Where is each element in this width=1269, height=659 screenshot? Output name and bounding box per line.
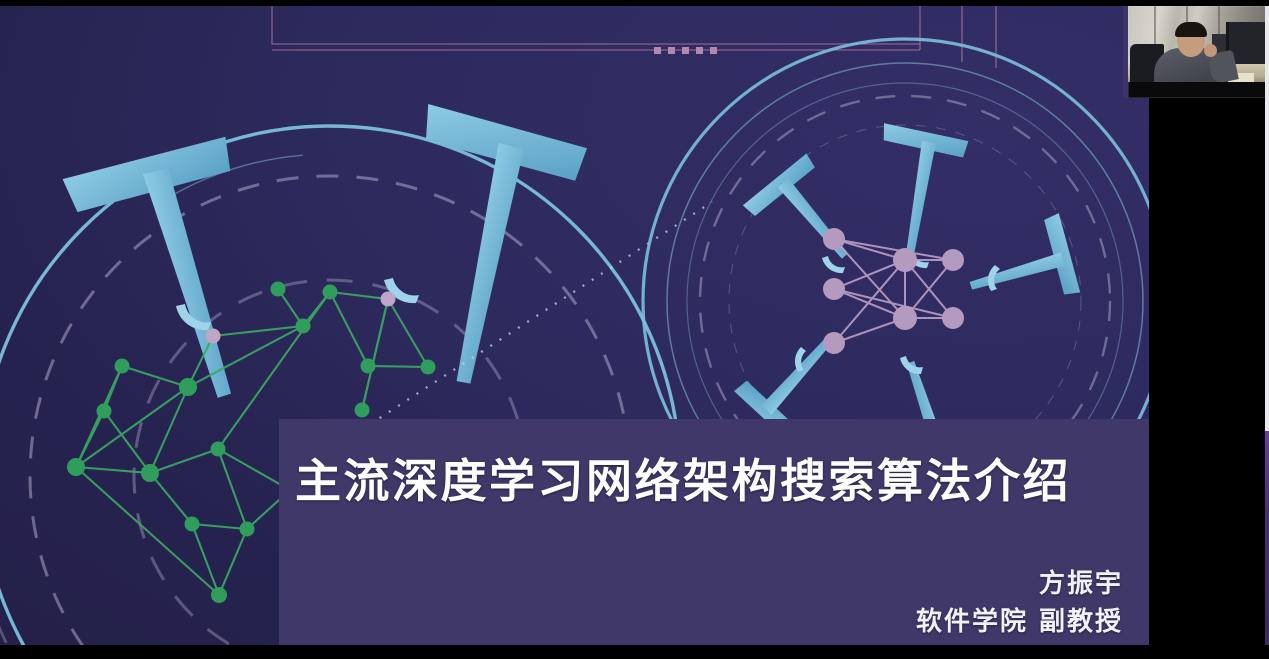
pink-graph-nodes — [823, 228, 964, 354]
letterbox-top — [0, 0, 1269, 6]
pink-graph-edges — [834, 239, 953, 343]
scrollbar-icon[interactable] — [1265, 6, 1269, 431]
presenter-webcam[interactable] — [1128, 6, 1266, 98]
author-affiliation: 软件学院 副教授 — [916, 602, 1123, 642]
scrollbar-thumb[interactable] — [1265, 431, 1269, 645]
webcam-person-hair — [1175, 22, 1207, 37]
letterbox-right — [1149, 98, 1269, 659]
webcam-person-hand — [1204, 44, 1217, 57]
dotted-connector — [352, 202, 712, 436]
schematic-frame — [272, 6, 996, 68]
page-title: 主流深度学习网络架构搜索算法介绍 — [295, 454, 1133, 508]
arc-fragment — [0, 476, 30, 645]
author-name: 方振宇 — [916, 566, 1123, 602]
video-player-stage: 主流深度学习网络架构搜索算法介绍 方振宇 软件学院 副教授 — [0, 0, 1269, 659]
author-block: 方振宇 软件学院 副教授 — [916, 566, 1123, 642]
slide-title-panel: 主流深度学习网络架构搜索算法介绍 方振宇 软件学院 副教授 — [279, 419, 1149, 645]
webcam-foreground-shadow — [1128, 82, 1266, 98]
presentation-slide: 主流深度学习网络架构搜索算法介绍 方振宇 软件学院 副教授 — [0, 6, 1266, 645]
letterbox-bottom — [0, 645, 1269, 659]
t-pin-marker-icon — [63, 104, 590, 423]
